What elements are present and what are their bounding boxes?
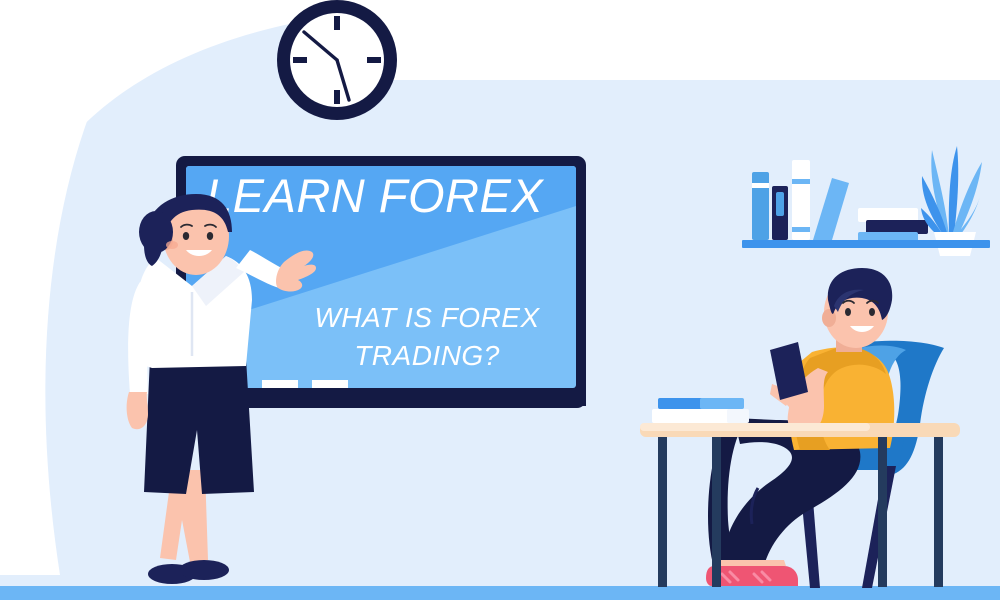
illustration-scene: LEARN FOREX WHAT IS FOREX TRADING? (0, 0, 1000, 600)
student-ankle-left (716, 560, 754, 566)
desk-book-white-2 (727, 409, 749, 423)
desk-leg-mid (712, 437, 721, 587)
student-ankle-right (748, 560, 786, 566)
student-eye-right (869, 308, 875, 316)
student-eye-left (845, 308, 851, 316)
desk-book-lightblue (700, 398, 744, 409)
desk-leg-right (878, 437, 887, 587)
desk-leg-left (658, 437, 667, 587)
desk-leg-far (934, 437, 943, 587)
study-area (0, 0, 1000, 600)
desk-top-highlight (640, 423, 870, 431)
